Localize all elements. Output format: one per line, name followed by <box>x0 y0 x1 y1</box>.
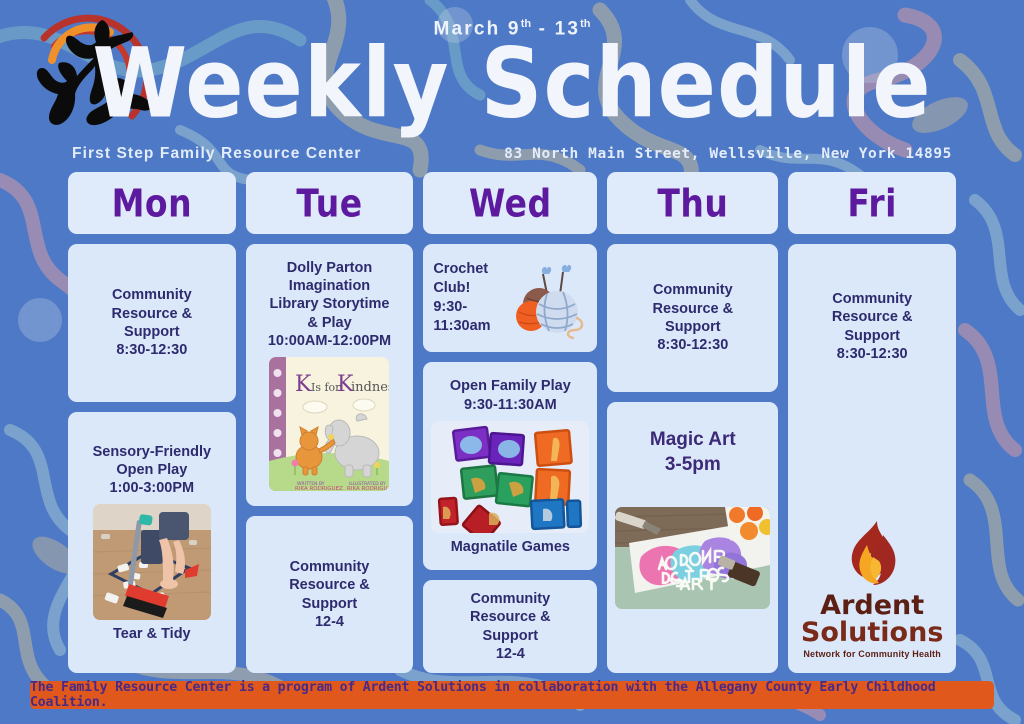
event-card-fri-1[interactable]: Community Resource & Support 8:30-12:30 … <box>788 244 956 673</box>
organization-address: 83 North Main Street, Wellsville, New Yo… <box>504 146 952 162</box>
logo-wordmark-line2: Solutions <box>801 620 943 646</box>
event-card-thu-1[interactable]: Community Resource & Support 8:30-12:30 <box>607 244 778 392</box>
event-title: Community Resource & Support 8:30-12:30 <box>832 290 913 363</box>
event-title: Sensory-Friendly Open Play 1:00-3:00PM <box>93 443 211 498</box>
event-card-mon-1[interactable]: Community Resource & Support 8:30-12:30 <box>68 244 236 402</box>
ardent-solutions-logo: Ardent Solutions Network for Community H… <box>801 519 943 659</box>
day-label-mon: Mon <box>112 181 193 226</box>
event-card-thu-2[interactable]: Magic Art 3-5pm <box>607 402 778 673</box>
day-header-tue: Tue <box>246 172 414 234</box>
day-column-thu: Thu Community Resource & Support 8:30-12… <box>607 172 778 673</box>
day-header-wed: Wed <box>423 172 597 234</box>
day-column-tue: Tue Dolly Parton Imagination Library Sto… <box>246 172 414 673</box>
event-card-wed-1[interactable]: Crochet Club! 9:30- 11:30am <box>423 244 597 352</box>
crayon-resist-art-photo <box>615 507 770 609</box>
event-title: Open Family Play 9:30-11:30AM <box>450 377 571 414</box>
magnatile-photo <box>431 421 589 533</box>
tear-and-tidy-photo <box>93 504 211 620</box>
svg-text:RIKA RODRIGUEZ: RIKA RODRIGUEZ <box>295 486 343 491</box>
footer-text: The Family Resource Center is a program … <box>30 680 994 710</box>
day-label-wed: Wed <box>469 181 552 226</box>
day-column-mon: Mon Community Resource & Support 8:30-12… <box>68 172 236 673</box>
footer-banner: The Family Resource Center is a program … <box>30 681 994 709</box>
page-title: Weekly Schedule <box>0 36 1024 132</box>
event-title: Community Resource & Support 8:30-12:30 <box>653 281 734 354</box>
day-label-thu: Thu <box>657 181 728 226</box>
event-caption: Tear & Tidy <box>113 626 191 642</box>
event-caption: Magnatile Games <box>451 539 570 555</box>
svg-text:K: K <box>295 372 312 397</box>
event-card-tue-2[interactable]: Community Resource & Support 12-4 <box>246 516 414 673</box>
day-header-thu: Thu <box>607 172 778 234</box>
svg-text:indness: indness <box>351 380 389 395</box>
event-title: Community Resource & Support 12-4 <box>470 590 551 663</box>
weekly-schedule-poster: March 9th - 13th Weekly Schedule First S… <box>0 0 1024 724</box>
yarn-balls-icon <box>507 260 587 344</box>
svg-text:RIKA RODRIGUEZ: RIKA RODRIGUEZ <box>347 486 389 491</box>
organization-name: First Step Family Resource Center <box>72 145 362 163</box>
event-title: Dolly Parton Imagination Library Storyti… <box>268 259 391 350</box>
k-is-for-kindness-book-cover: K Is for K indness <box>269 357 389 491</box>
poster-header: March 9th - 13th Weekly Schedule First S… <box>0 0 1024 170</box>
event-title: Crochet Club! 9:30- 11:30am <box>433 260 490 335</box>
schedule-grid: Mon Community Resource & Support 8:30-12… <box>68 172 956 660</box>
event-card-wed-3[interactable]: Community Resource & Support 12-4 <box>423 580 597 673</box>
event-title: Community Resource & Support 12-4 <box>289 558 370 631</box>
day-header-mon: Mon <box>68 172 236 234</box>
event-title: Magic Art 3-5pm <box>650 428 736 477</box>
event-card-wed-2[interactable]: Open Family Play 9:30-11:30AM <box>423 362 597 570</box>
day-label-tue: Tue <box>296 181 362 226</box>
day-column-wed: Wed Crochet Club! 9:30- 11:30am <box>423 172 597 673</box>
day-label-fri: Fri <box>847 181 897 226</box>
event-card-tue-1[interactable]: Dolly Parton Imagination Library Storyti… <box>246 244 414 506</box>
flame-icon <box>833 519 911 593</box>
logo-tagline: Network for Community Health <box>803 649 941 659</box>
event-card-mon-2[interactable]: Sensory-Friendly Open Play 1:00-3:00PM <box>68 412 236 673</box>
day-column-fri: Fri Community Resource & Support 8:30-12… <box>788 172 956 673</box>
logo-wordmark-line1: Ardent <box>820 593 924 619</box>
day-header-fri: Fri <box>788 172 956 234</box>
event-title: Community Resource & Support 8:30-12:30 <box>112 286 193 359</box>
